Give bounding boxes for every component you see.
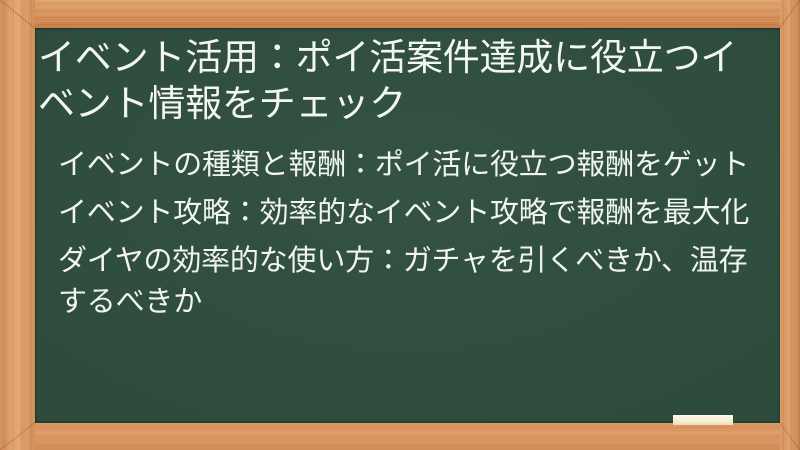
chalkboard-content: イベント活用：ポイ活案件達成に役立つイベント情報をチェック イベントの種類と報酬…	[35, 28, 780, 423]
topic-list: イベントの種類と報酬：ポイ活に役立つ報酬をゲット イベント攻略：効率的なイベント…	[38, 145, 766, 323]
page-title: イベント活用：ポイ活案件達成に役立つイベント情報をチェック	[38, 35, 766, 127]
list-item: イベントの種類と報酬：ポイ活に役立つ報酬をゲット	[58, 145, 758, 186]
frame-rail-top	[0, 0, 800, 28]
frame-rail-right	[780, 0, 800, 450]
chalkboard-surface: イベント活用：ポイ活案件達成に役立つイベント情報をチェック イベントの種類と報酬…	[35, 28, 780, 423]
frame-rail-bottom	[0, 423, 800, 450]
chalk-stick-icon	[673, 415, 733, 425]
chalkboard-slide: イベント活用：ポイ活案件達成に役立つイベント情報をチェック イベントの種類と報酬…	[0, 0, 800, 450]
frame-rail-left	[0, 0, 35, 450]
list-item: ダイヤの効率的な使い方：ガチャを引くべきか、温存するべきか	[58, 241, 758, 323]
list-item: イベント攻略：効率的なイベント攻略で報酬を最大化	[58, 193, 758, 234]
